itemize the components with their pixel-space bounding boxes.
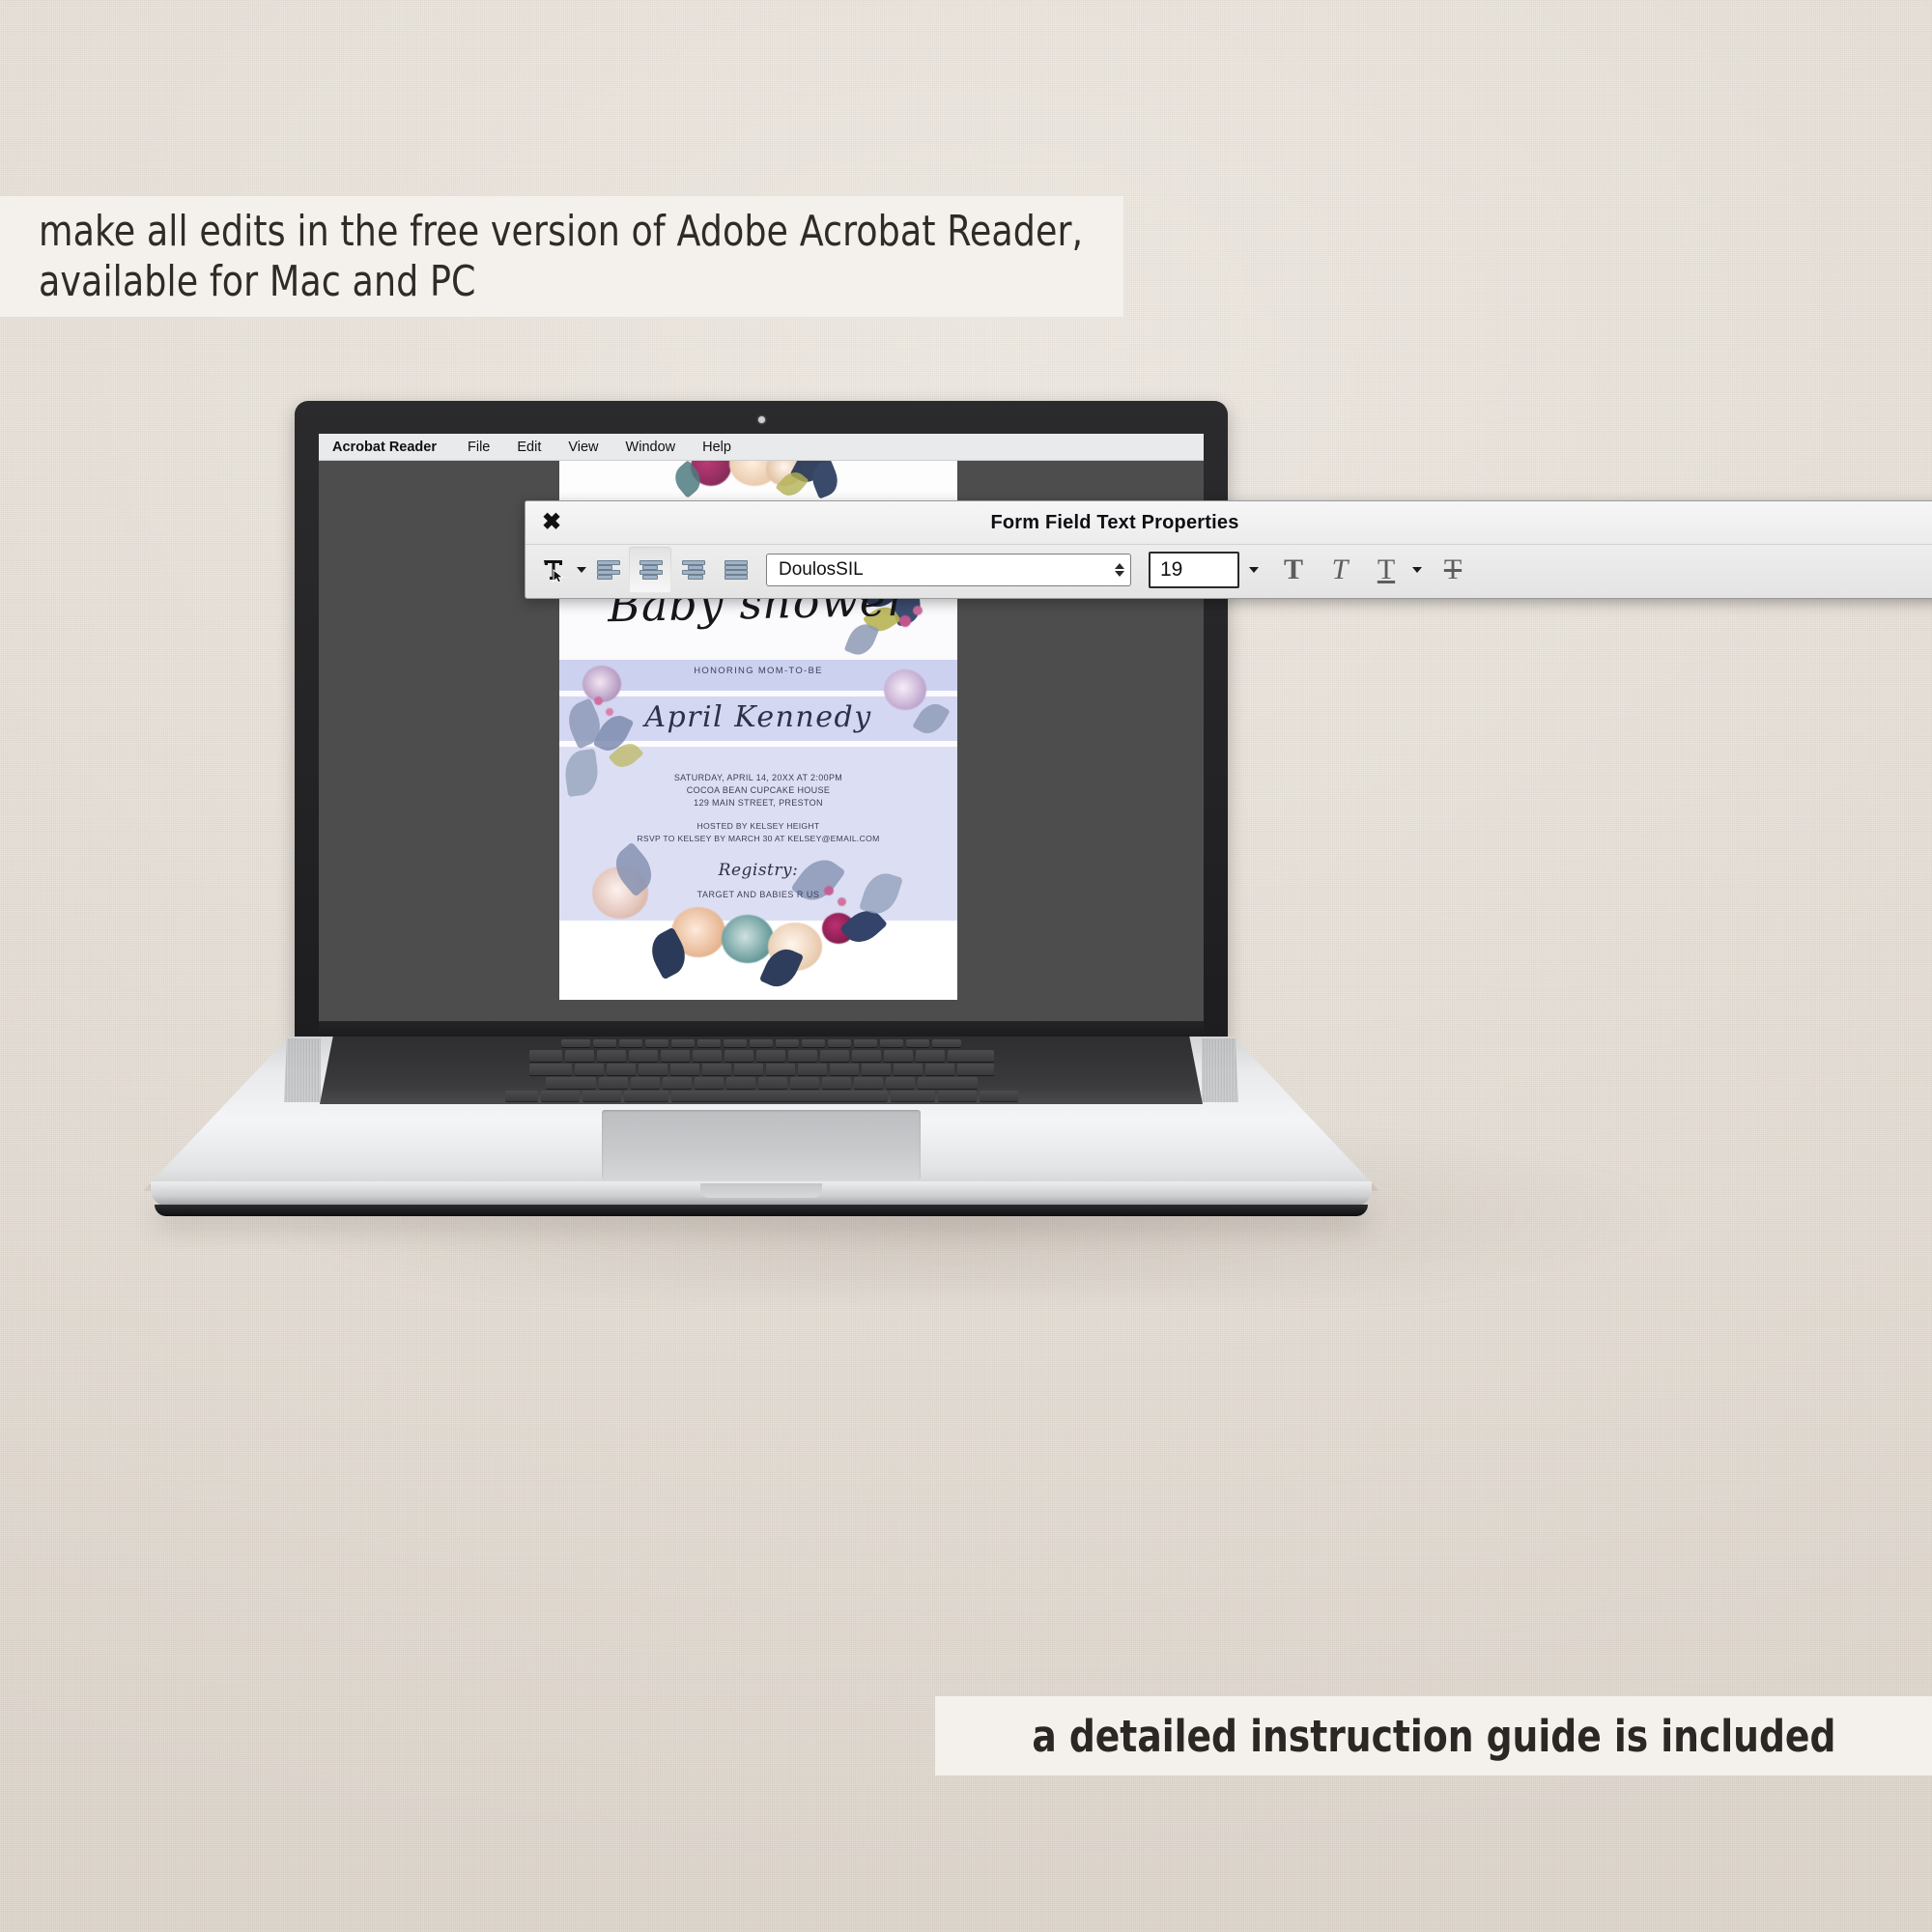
keyboard-deck	[143, 1037, 1379, 1191]
speaker-grille-right	[1202, 1038, 1238, 1102]
align-right-button[interactable]	[671, 547, 714, 593]
menu-file[interactable]: File	[454, 434, 503, 461]
font-size-value: 19	[1160, 558, 1182, 582]
menu-help[interactable]: Help	[689, 434, 745, 461]
text-tool-dropdown-icon[interactable]	[577, 567, 586, 573]
keyboard-row-function[interactable]	[320, 1039, 1203, 1047]
macos-menubar[interactable]: Acrobat Reader File Edit View Window Hel…	[319, 434, 1204, 461]
card-honoree-name: April Kennedy	[559, 700, 957, 734]
card-detail-venue: COCOA BEAN CUPCAKE HOUSE	[559, 784, 957, 797]
caption-top-line-2: available for Mac and PC	[39, 257, 476, 306]
card-rsvp: RSVP TO KELSEY BY MARCH 30 AT KELSEY@EMA…	[559, 833, 957, 845]
menu-window[interactable]: Window	[612, 434, 690, 461]
font-family-value: DoulosSIL	[779, 559, 864, 581]
card-detail-date: SATURDAY, APRIL 14, 20XX AT 2:00PM	[559, 772, 957, 784]
caption-bottom-text: a detailed instruction guide is included	[1032, 1711, 1835, 1762]
keyboard-row-numbers[interactable]	[320, 1050, 1203, 1062]
align-justify-icon	[724, 560, 746, 580]
align-justify-button[interactable]	[714, 547, 756, 593]
form-field-text-properties-dialog[interactable]: Form Field Text Properties ✖ DoulosSIL	[525, 500, 1932, 599]
caption-bottom: a detailed instruction guide is included	[935, 1696, 1932, 1776]
card-detail-address: 129 MAIN STREET, PRESTON	[559, 797, 957, 810]
card-registry-label: Registry:	[559, 861, 957, 880]
align-left-icon	[597, 560, 618, 580]
floral-bottom-rose-teal	[722, 915, 774, 963]
align-center-button[interactable]	[629, 547, 671, 593]
keyboard-row-asdf[interactable]	[320, 1077, 1203, 1089]
text-tool-icon[interactable]	[535, 547, 574, 593]
base-underside	[155, 1205, 1368, 1216]
font-size-dropdown-icon[interactable]	[1249, 567, 1259, 573]
close-icon[interactable]: ✖	[539, 511, 564, 534]
caption-top: make all edits in the free version of Ad…	[0, 196, 1123, 317]
dialog-title: Form Field Text Properties	[526, 501, 1932, 544]
speaker-grille-left	[284, 1038, 321, 1102]
lid-open-notch	[700, 1183, 822, 1198]
card-event-details: SATURDAY, APRIL 14, 20XX AT 2:00PM COCOA…	[559, 772, 957, 810]
font-family-stepper-icon[interactable]	[1115, 563, 1124, 577]
underline-button[interactable]: T	[1363, 548, 1409, 592]
card-honoring-label: HONORING MOM-TO-BE	[559, 666, 957, 676]
keyboard[interactable]	[320, 1037, 1203, 1104]
dialog-toolbar[interactable]: DoulosSIL 19 T T T T	[526, 544, 1932, 596]
strikethrough-button[interactable]: T	[1430, 548, 1476, 592]
trackpad[interactable]	[602, 1110, 921, 1179]
laptop-lid: Acrobat Reader File Edit View Window Hel…	[295, 401, 1228, 1040]
webcam-icon	[758, 416, 765, 423]
font-size-input[interactable]: 19	[1149, 552, 1239, 588]
keyboard-row-qwerty[interactable]	[320, 1064, 1203, 1075]
dialog-titlebar[interactable]: Form Field Text Properties	[526, 501, 1932, 545]
bold-button[interactable]: T	[1270, 548, 1317, 592]
underline-dropdown-icon[interactable]	[1412, 567, 1422, 573]
card-registry-value: TARGET AND BABIES R US	[559, 890, 957, 899]
menu-view[interactable]: View	[554, 434, 611, 461]
text-tool-glyph	[542, 557, 567, 582]
align-center-icon	[639, 560, 661, 580]
align-left-button[interactable]	[586, 547, 629, 593]
font-family-select[interactable]: DoulosSIL	[766, 554, 1131, 586]
menu-edit[interactable]: Edit	[503, 434, 554, 461]
caption-top-line-1: make all edits in the free version of Ad…	[39, 207, 1083, 256]
italic-button[interactable]: T	[1317, 548, 1363, 592]
card-hosted-by: HOSTED BY KELSEY HEIGHT	[559, 820, 957, 833]
align-right-icon	[682, 560, 703, 580]
menubar-app-name[interactable]: Acrobat Reader	[332, 434, 454, 461]
laptop-base	[143, 1037, 1379, 1218]
keyboard-row-modifiers[interactable]	[320, 1091, 1203, 1101]
card-host-block: HOSTED BY KELSEY HEIGHT RSVP TO KELSEY B…	[559, 820, 957, 845]
